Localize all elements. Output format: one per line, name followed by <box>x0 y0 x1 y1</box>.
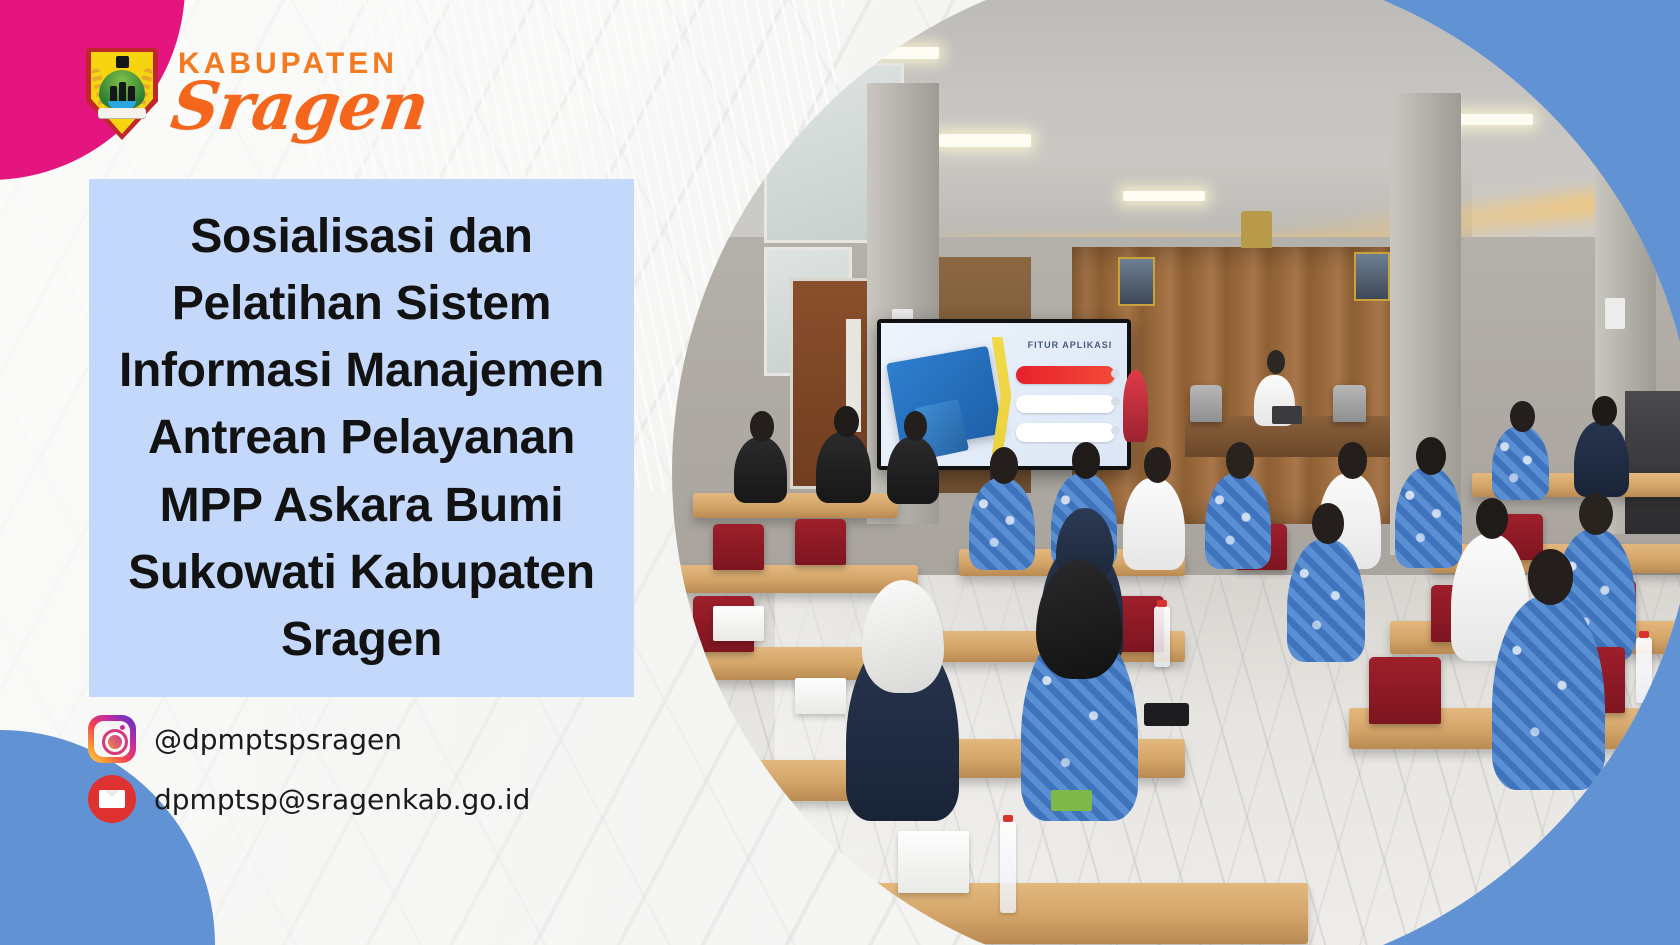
bottle-cap-2 <box>1157 600 1167 607</box>
attendee-far-right-2-head <box>1592 396 1617 427</box>
training-room-photo: FITUR APLIKASI <box>672 0 1680 945</box>
ceiling-light-1 <box>805 1 928 15</box>
email-address: dpmptsp@sragenkab.go.id <box>154 783 530 816</box>
poster-canvas: FITUR APLIKASI <box>0 0 1680 945</box>
right-cabinet <box>1625 391 1680 535</box>
attendee-row2-2-head <box>1072 442 1101 479</box>
screen-feature-pill-1 <box>1016 366 1114 385</box>
crest-ribbon <box>98 108 146 118</box>
bottle-cap <box>1003 815 1013 822</box>
chair-row2-2 <box>795 519 846 565</box>
green-item-on-desk <box>1051 790 1092 811</box>
envelope-glyph <box>99 790 125 808</box>
brand-text: KABUPATEN Sragen <box>172 49 427 139</box>
attendee-row2-6 <box>1395 467 1463 567</box>
attendee-far-3-head <box>904 411 928 441</box>
water-bottle-row3 <box>1154 606 1170 668</box>
chair-row4-1 <box>1369 657 1441 724</box>
ceiling-light-5 <box>1451 114 1533 125</box>
snack-box-front <box>898 831 970 893</box>
wall-portrait-right <box>1354 252 1391 301</box>
attendee-row3-2 <box>1287 539 1365 662</box>
brand-logo: KABUPATEN Sragen <box>86 48 427 140</box>
fire-extinguisher-sign-right <box>1605 298 1626 329</box>
attendee-far-2-head <box>834 406 859 437</box>
screen-feature-pill-2 <box>1016 395 1114 414</box>
wall-portrait-left <box>1118 257 1155 306</box>
attendee-row2-1 <box>969 478 1035 570</box>
ceiling-light-3 <box>939 134 1031 146</box>
email-icon[interactable] <box>88 775 136 823</box>
head-table-chair-1 <box>1190 385 1223 422</box>
page-title: Sosialisasi dan Pelatihan Sistem Informa… <box>105 203 618 673</box>
presenter-head <box>1267 350 1285 375</box>
attendee-far-1-head <box>750 411 775 442</box>
attendee-row2-3 <box>1123 478 1185 570</box>
garuda-emblem <box>1241 211 1272 248</box>
crest-star <box>116 56 129 68</box>
ceiling-light-4 <box>1123 191 1205 201</box>
attendee-row2-6-head <box>1416 437 1446 475</box>
attendee-far-right-2 <box>1574 421 1629 497</box>
sragen-regency-crest-icon <box>86 48 158 140</box>
head-table-chair-2 <box>1333 385 1366 422</box>
contact-row-email[interactable]: dpmptsp@sragenkab.go.id <box>88 775 530 823</box>
attendee-row2-4-head <box>1226 442 1255 479</box>
attendee-far-right-1-head <box>1510 401 1535 432</box>
attendee-row2-3-head <box>1144 447 1172 483</box>
chair-row2-1 <box>713 524 764 570</box>
attendee-far-2 <box>816 432 871 504</box>
water-bottle-front <box>1000 821 1016 913</box>
flower-decoration <box>1123 370 1148 442</box>
attendee-row2-5-head <box>1338 442 1367 479</box>
brand-regency-name: Sragen <box>167 73 432 139</box>
instagram-dot <box>120 725 125 730</box>
screen-feature-pill-3 <box>1016 423 1114 442</box>
instagram-ring <box>102 729 128 755</box>
snack-box-row3-2 <box>795 678 846 715</box>
photo-inner: FITUR APLIKASI <box>672 0 1680 945</box>
screen-bullet-dot-2 <box>1111 397 1120 406</box>
attendee-far-3 <box>887 437 938 505</box>
bottle-cap-3 <box>1639 631 1649 638</box>
attendee-far-right-1 <box>1492 426 1549 500</box>
water-bottle-right <box>1636 637 1652 704</box>
attendee-far-1 <box>734 437 787 504</box>
headline-box: Sosialisasi dan Pelatihan Sistem Informa… <box>89 179 634 697</box>
phone-on-desk <box>1144 703 1189 726</box>
screen-bullet-dot-3 <box>1111 426 1120 435</box>
ceiling-light-2 <box>846 47 938 59</box>
snack-box-row3 <box>713 606 764 641</box>
attendee-row3-4-head <box>1579 493 1613 535</box>
attendee-front-right-head <box>1528 549 1573 604</box>
screen-bullet-dot-1 <box>1111 369 1120 378</box>
contact-list: @dpmptspsragen dpmptsp@sragenkab.go.id <box>88 715 530 823</box>
contact-row-instagram[interactable]: @dpmptspsragen <box>88 715 530 763</box>
screen-title-text: FITUR APLIKASI <box>1028 340 1113 350</box>
laptop-on-head-table <box>1272 406 1303 424</box>
attendee-front-right <box>1492 596 1605 791</box>
attendee-row2-1-head <box>990 447 1019 484</box>
instagram-handle: @dpmptspsragen <box>154 723 402 756</box>
attendee-row2-4 <box>1205 473 1271 569</box>
instagram-icon[interactable] <box>88 715 136 763</box>
